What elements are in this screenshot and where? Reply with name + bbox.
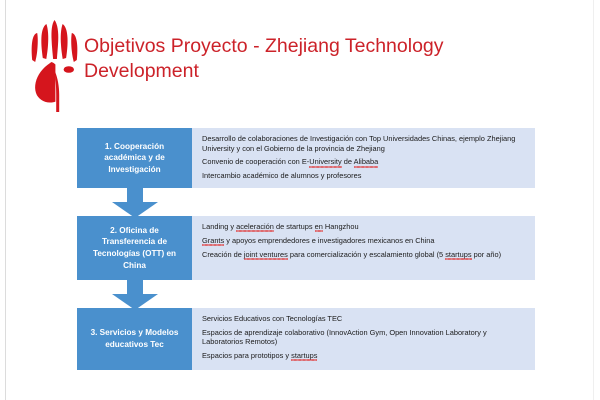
flow-row-2-panel: Landing y aceleración de startups en Han…: [192, 216, 535, 280]
list-item: Espacios para prototipos y startups: [202, 351, 526, 361]
tec-flame-logo-icon: [24, 12, 86, 112]
slide-canvas: Objetivos Proyecto - Zhejiang Technology…: [0, 0, 600, 400]
list-item: Grants y apoyos emprendedores e investig…: [202, 236, 526, 246]
list-item: Intercambio académico de alumnos y profe…: [202, 171, 526, 181]
list-item: Espacios de aprendizaje colaborativo (In…: [202, 328, 526, 347]
page-title: Objetivos Proyecto - Zhejiang Technology…: [84, 34, 554, 84]
flow-row-3-label[interactable]: 3. Servicios y Modelos educativos Tec: [77, 308, 192, 370]
list-item: Landing y aceleración de startups en Han…: [202, 222, 526, 232]
flow-row-1-panel: Desarrollo de colaboraciones de Investig…: [192, 128, 535, 188]
arrow-row2-to-row3: [112, 280, 158, 310]
flow-row-1-label[interactable]: 1. Cooperación académica y de Investigac…: [77, 128, 192, 188]
list-item: Desarrollo de colaboraciones de Investig…: [202, 134, 526, 153]
list-item: Creación de joint ventures para comercia…: [202, 250, 526, 260]
arrow-row1-to-row2: [112, 188, 158, 218]
flow-row-3-panel: Servicios Educativos con Tecnologías TEC…: [192, 308, 535, 370]
flow-row-2-label[interactable]: 2. Oficina de Transferencia de Tecnologí…: [77, 216, 192, 280]
list-item: Convenio de cooperación con E-University…: [202, 157, 526, 167]
list-item: Servicios Educativos con Tecnologías TEC: [202, 314, 526, 324]
slide-header: Objetivos Proyecto - Zhejiang Technology…: [0, 0, 600, 118]
